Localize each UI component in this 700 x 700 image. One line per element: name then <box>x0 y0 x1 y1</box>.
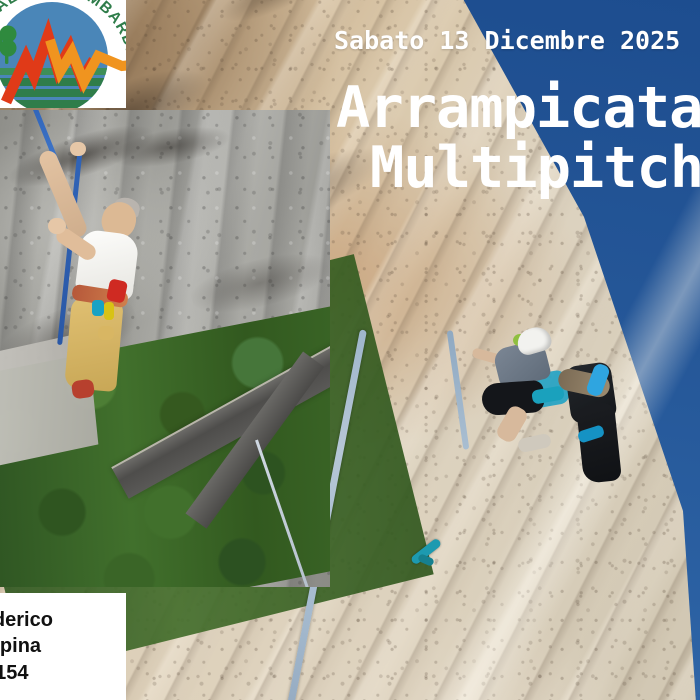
inset-climber-blue-gear <box>92 300 104 316</box>
inset-climber <box>10 140 190 460</box>
title-line-2: Multipitch <box>370 138 700 198</box>
contact-name: oni Federico <box>0 607 126 633</box>
belay-climbers <box>470 300 660 500</box>
event-date: Sabato 13 Dicembre 2025 <box>334 26 680 55</box>
white-climbing-helmet <box>514 324 554 357</box>
inset-climber-knee <box>98 326 114 340</box>
contact-lines: oni Federico uida Alpina 3/6800154 <box>0 607 126 686</box>
second-climber-body <box>576 402 622 484</box>
inset-climber-shoe <box>71 379 95 400</box>
inset-photo <box>0 110 330 587</box>
guide-alpine-lombardia-logo-icon: GUIDE ALPINE LOMBARDIA <box>0 0 126 108</box>
lead-climber-shoe <box>517 433 552 454</box>
title-line-1: Arrampicata <box>336 78 700 138</box>
contact-role: uida Alpina <box>0 633 126 659</box>
contact-phone: 3/6800154 <box>0 660 126 686</box>
inset-climber-left-hand <box>48 218 66 234</box>
inset-climber-yellow-gear <box>104 302 114 320</box>
guide-alpine-logo-box: GUIDE ALPINE LOMBARDIA <box>0 0 126 108</box>
poster-title: Arrampicata Multipitch <box>336 78 700 199</box>
poster-canvas: GUIDE ALPINE LOMBARDIA oni Federico uida… <box>0 0 700 700</box>
contact-info-box: oni Federico uida Alpina 3/6800154 <box>0 593 126 700</box>
inset-climber-hand-hold <box>70 142 86 156</box>
